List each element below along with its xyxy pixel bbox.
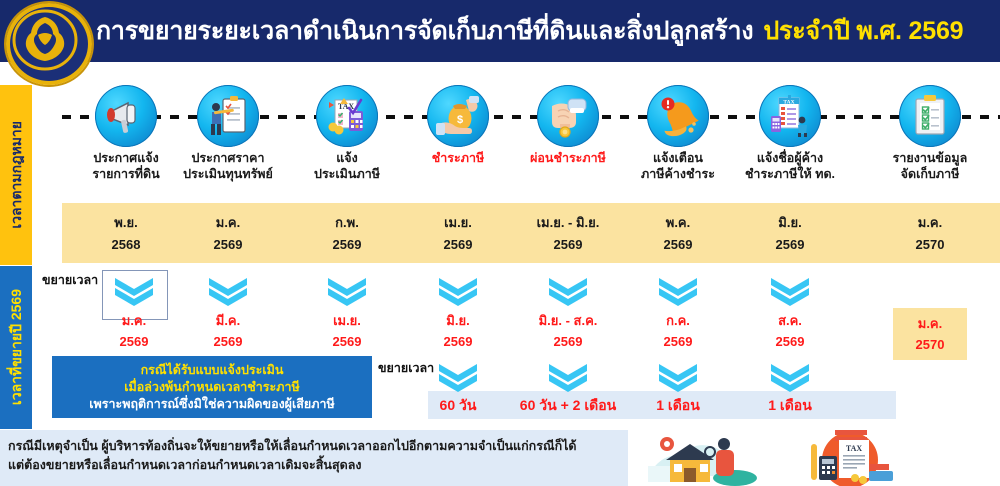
timeline-node-7[interactable]: TAX (759, 85, 821, 147)
extension-date-month: ม.ค. (918, 313, 943, 334)
tax-list-icon: TAX (759, 85, 821, 147)
step-label-line1: ประกาศแจ้ง (93, 151, 158, 165)
side-tab-legal-time: เวลาตามกฎหมาย (0, 85, 32, 265)
footer-line-1: กรณีมีเหตุจำเป็น ผู้บริหารท้องถิ่นจะให้ข… (8, 439, 577, 453)
timeline-node-4[interactable]: $ (427, 85, 489, 147)
legal-date-year: 2569 (715, 234, 865, 256)
duration-caption: ขยายเวลา (378, 358, 434, 378)
money-bag-hand-icon: $ (427, 85, 489, 147)
duration-chevron-1 (435, 362, 481, 392)
extension-chevron-4 (435, 276, 481, 306)
step-label-line1: แจ้งเตือน (653, 151, 703, 165)
side-tab-legal-time-label: เวลาตามกฎหมาย (9, 121, 23, 229)
duration-chevron-2 (545, 362, 591, 392)
timeline-node-8[interactable] (899, 85, 961, 147)
extension-date-year: 2569 (715, 331, 865, 352)
legal-date-cell-8: ม.ค.2570 (855, 212, 1000, 256)
extension-chevron-3 (324, 276, 370, 306)
page-title: การขยายระยะเวลาดำเนินการจัดเก็บภาษีที่ดิ… (96, 0, 963, 62)
garuda-emblem (6, 3, 92, 85)
footer-line-2: แต่ต้องขยายหรือเลื่อนกำหนดเวลาก่อนกำหนดเ… (8, 458, 361, 472)
timeline-node-2[interactable] (197, 85, 259, 147)
timeline-labels: ประกาศแจ้งรายการที่ดินประกาศราคาประเมินท… (32, 150, 1000, 198)
page-title-year: ประจำปี พ.ศ. 2569 (763, 11, 963, 51)
note-line-3: เพราะพฤติการณ์ซึ่งมิใช่ความผิดของผู้เสีย… (89, 396, 334, 413)
tax-document-illustration: TAX (795, 430, 905, 486)
extension-caption: ขยายเวลา (42, 270, 98, 290)
timeline-node-label-8: รายงานข้อมูลจัดเก็บภาษี (855, 150, 1000, 182)
step-label-line1: แจ้งชื่อผู้ค้าง (757, 151, 823, 165)
megaphone-icon (95, 85, 157, 147)
duration-text: 1 เดือน (656, 397, 700, 413)
legal-date-month: ม.ค. (855, 212, 1000, 234)
step-label-line2: ประเมินทุนทรัพย์ (183, 167, 273, 181)
step-label-line2: รายการที่ดิน (92, 167, 159, 181)
step-label-line2: ภาษีค้างชำระ (641, 167, 715, 181)
extension-date-cell-7: ส.ค.2569 (715, 310, 865, 352)
footer-note: กรณีมีเหตุจำเป็น ผู้บริหารท้องถิ่นจะให้ข… (0, 430, 628, 486)
page-header: การขยายระยะเวลาดำเนินการจัดเก็บภาษีที่ดิ… (0, 0, 1000, 62)
duration-chevron-3 (655, 362, 701, 392)
step-label-line1: ชำระภาษี (432, 151, 484, 165)
special-case-note-box: กรณีได้รับแบบแจ้งประเมิน เมื่อล่วงพ้นกำห… (52, 356, 372, 418)
extension-date-cell-8: ม.ค.2570 (893, 308, 967, 360)
step-label-line1: รายงานข้อมูล (893, 151, 968, 165)
timeline-node-1[interactable] (95, 85, 157, 147)
extension-chevron-6 (655, 276, 701, 306)
clipboard-person-icon (197, 85, 259, 147)
step-label-line2: จัดเก็บภาษี (901, 167, 960, 181)
legal-date-band: พ.ย.2568ม.ค.2569ก.พ.2569เม.ย.2569เม.ย. -… (62, 203, 1000, 263)
page-title-main: การขยายระยะเวลาดำเนินการจัดเก็บภาษีที่ดิ… (96, 11, 753, 51)
timeline: TAX $ (32, 85, 1000, 147)
extension-chevron-5 (545, 276, 591, 306)
timeline-node-5[interactable] (537, 85, 599, 147)
extension-chevron-1 (111, 276, 157, 306)
timeline-node-3[interactable]: TAX (316, 85, 378, 147)
step-label-line1: แจ้ง (336, 151, 357, 165)
checklist-icon (899, 85, 961, 147)
svg-text:TAX: TAX (783, 100, 794, 106)
svg-text:TAX: TAX (846, 444, 863, 453)
extension-date-month: ส.ค. (715, 310, 865, 331)
legal-date-cell-7: มิ.ย.2569 (715, 212, 865, 256)
step-label-line1: ประกาศราคา (192, 151, 265, 165)
duration-text: 1 เดือน (768, 397, 812, 413)
timeline-node-6[interactable] (647, 85, 709, 147)
step-label-line2: ชำระภาษีให้ ทด. (745, 167, 835, 181)
timeline-node-label-7: แจ้งชื่อผู้ค้างชำระภาษีให้ ทด. (715, 150, 865, 182)
side-tab-extended-time-label: เวลาที่ขยายปี 2569 (9, 289, 23, 405)
legal-date-year: 2570 (855, 234, 1000, 256)
legal-date-month: มิ.ย. (715, 212, 865, 234)
duration-chevron-4 (767, 362, 813, 392)
duration-text: 60 วัน (440, 397, 477, 413)
step-label-line1: ผ่อนชำระภาษี (530, 151, 606, 165)
hand-coin-icon (537, 85, 599, 147)
extension-date-year: 2570 (916, 334, 945, 355)
svg-text:$: $ (457, 114, 463, 126)
bell-alert-icon (647, 85, 709, 147)
note-line-2: เมื่อล่วงพ้นกำหนดเวลาชำระภาษี (124, 379, 299, 396)
extension-chevron-7 (767, 276, 813, 306)
extension-chevron-2 (205, 276, 251, 306)
duration-text: 60 วัน + 2 เดือน (520, 397, 616, 413)
house-survey-illustration (640, 430, 760, 486)
tax-form-icon: TAX (316, 85, 378, 147)
note-line-1: กรณีได้รับแบบแจ้งประเมิน (141, 362, 284, 379)
duration-cell-4: 1 เดือน (715, 394, 865, 416)
step-label-line2: ประเมินภาษี (314, 167, 380, 181)
side-tab-extended-time: เวลาที่ขยายปี 2569 (0, 266, 32, 429)
